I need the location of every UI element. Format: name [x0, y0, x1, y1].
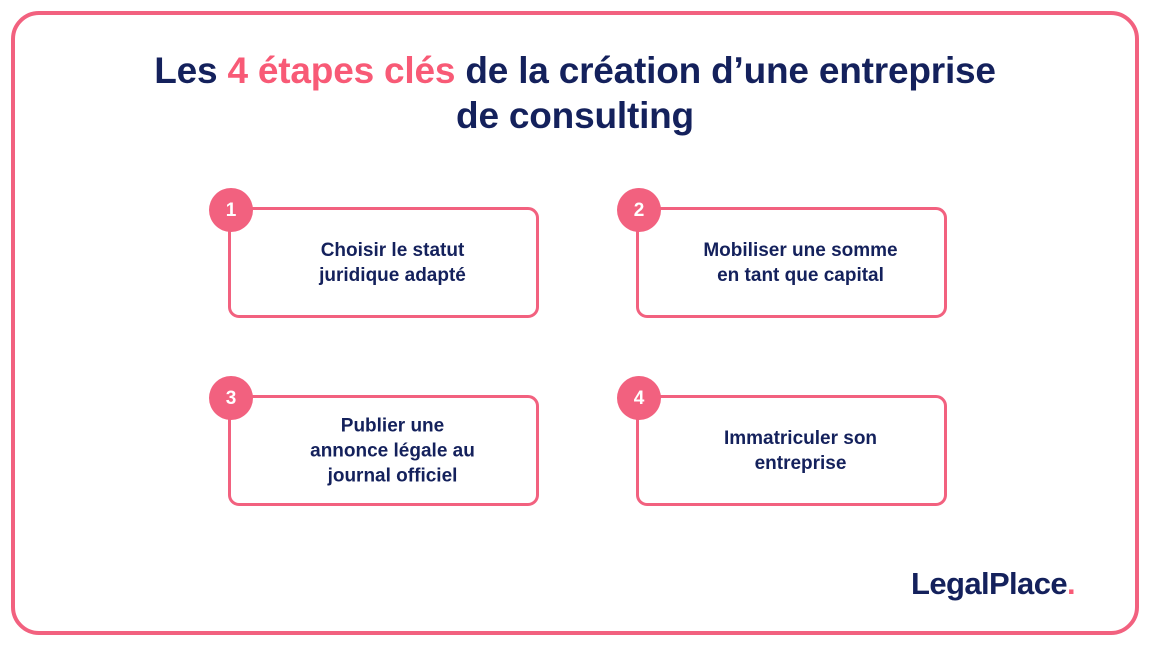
step-label-2: Mobiliser une somme en tant que capital: [639, 238, 944, 288]
step-card-3[interactable]: 3 Publier une annonce légale au journal …: [228, 395, 539, 506]
step-number-badge-2: 2: [617, 188, 661, 232]
step-number-badge-1: 1: [209, 188, 253, 232]
step-label-1: Choisir le statut juridique adapté: [231, 238, 536, 288]
step-label-3: Publier une annonce légale au journal of…: [231, 413, 536, 488]
logo-wordmark: LegalPlace: [911, 566, 1067, 601]
infographic-canvas: Les 4 étapes clés de la création d’une e…: [0, 0, 1150, 647]
step-number-badge-4: 4: [617, 376, 661, 420]
steps-grid: 1 Choisir le statut juridique adapté 2 M…: [0, 0, 1150, 647]
step-card-1[interactable]: 1 Choisir le statut juridique adapté: [228, 207, 539, 318]
legalplace-logo: LegalPlace.: [911, 566, 1075, 602]
step-label-4: Immatriculer son entreprise: [639, 426, 944, 476]
logo-dot: .: [1067, 566, 1075, 601]
step-card-2[interactable]: 2 Mobiliser une somme en tant que capita…: [636, 207, 947, 318]
step-card-4[interactable]: 4 Immatriculer son entreprise: [636, 395, 947, 506]
